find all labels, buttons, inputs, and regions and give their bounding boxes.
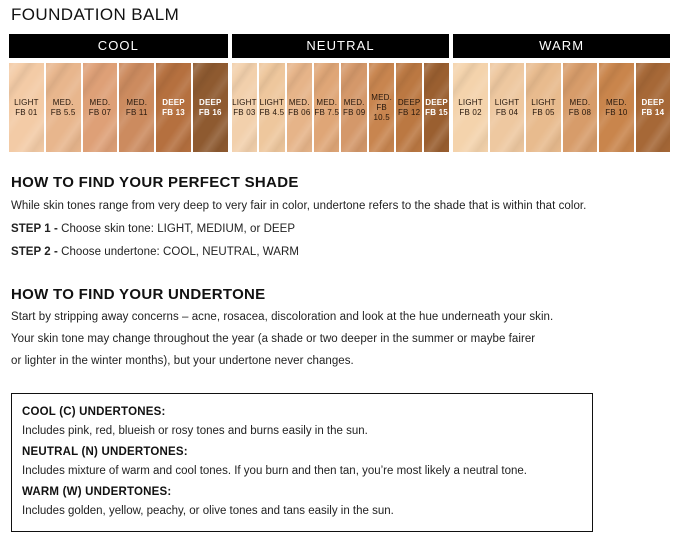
swatch-row-cool: LIGHTFB 01MED.FB 5.5MED.FB 07MED.FB 11DE… <box>9 63 228 152</box>
foundation-balm-shade-guide: FOUNDATION BALM COOL LIGHTFB 01MED.FB 5.… <box>0 0 679 544</box>
swatch-code: FB 4.5 <box>259 108 284 118</box>
swatch-tone: DEEP <box>424 98 449 108</box>
swatch-code: FB 10.5 <box>369 103 394 123</box>
shade-swatch[interactable]: MED.FB 5.5 <box>46 63 81 152</box>
swatch-tone: LIGHT <box>490 98 524 108</box>
undertone-definitions-box: COOL (C) UNDERTONES:Includes pink, red, … <box>11 393 593 532</box>
undertone-description: Includes mixture of warm and cool tones.… <box>22 465 592 477</box>
undertone-entry: NEUTRAL (N) UNDERTONES:Includes mixture … <box>22 446 592 477</box>
swatch-code: FB 08 <box>563 108 597 118</box>
swatch-label: DEEPFB 14 <box>636 98 670 118</box>
swatch-code: FB 10 <box>599 108 633 118</box>
shade-swatch[interactable]: LIGHTFB 02 <box>453 63 487 152</box>
heading-perfect-shade: HOW TO FIND YOUR PERFECT SHADE <box>11 174 299 191</box>
shade-swatch[interactable]: LIGHTFB 4.5 <box>259 63 284 152</box>
undertone-paragraph-1: Start by stripping away concerns – acne,… <box>11 311 553 323</box>
shade-swatch[interactable]: LIGHTFB 03 <box>232 63 257 152</box>
shade-swatch[interactable]: DEEPFB 14 <box>636 63 670 152</box>
step-1-line: STEP 1 - Choose skin tone: LIGHT, MEDIUM… <box>11 223 295 235</box>
swatch-tone: MED. <box>341 98 366 108</box>
swatch-code: FB 12 <box>396 108 421 118</box>
swatch-code: FB 01 <box>9 108 44 118</box>
swatch-tone: LIGHT <box>9 98 44 108</box>
shade-group-cool: COOL LIGHTFB 01MED.FB 5.5MED.FB 07MED.FB… <box>9 34 228 152</box>
step-1-text: Choose skin tone: LIGHT, MEDIUM, or DEEP <box>58 223 295 235</box>
swatch-tone: LIGHT <box>232 98 257 108</box>
swatch-label: LIGHTFB 01 <box>9 98 44 118</box>
shade-swatch[interactable]: LIGHTFB 05 <box>526 63 560 152</box>
shade-swatch[interactable]: MED.FB 11 <box>119 63 154 152</box>
shade-swatch[interactable]: LIGHTFB 01 <box>9 63 44 152</box>
shade-swatch[interactable]: MED.FB 07 <box>83 63 118 152</box>
swatch-label: DEEPFB 12 <box>396 98 421 118</box>
undertone-paragraph-2: Your skin tone may change throughout the… <box>11 333 535 345</box>
swatch-code: FB 07 <box>83 108 118 118</box>
swatch-code: FB 15 <box>424 108 449 118</box>
swatch-tone: MED. <box>314 98 339 108</box>
swatch-label: LIGHTFB 04 <box>490 98 524 118</box>
shade-swatch[interactable]: LIGHTFB 04 <box>490 63 524 152</box>
shade-swatch[interactable]: MED.FB 7.5 <box>314 63 339 152</box>
step-2-label: STEP 2 - <box>11 246 58 258</box>
undertone-paragraph-3: or lighter in the winter months), but yo… <box>11 355 354 367</box>
perfect-shade-lede: While skin tones range from very deep to… <box>11 200 586 212</box>
shade-group-warm: WARM LIGHTFB 02LIGHTFB 04LIGHTFB 05MED.F… <box>453 34 670 152</box>
shade-swatch[interactable]: DEEPFB 15 <box>424 63 449 152</box>
swatch-code: FB 02 <box>453 108 487 118</box>
swatch-code: FB 11 <box>119 108 154 118</box>
swatch-label: MED.FB 09 <box>341 98 366 118</box>
group-header-neutral: NEUTRAL <box>232 34 450 58</box>
step-2-line: STEP 2 - Choose undertone: COOL, NEUTRAL… <box>11 246 299 258</box>
swatch-tone: MED. <box>83 98 118 108</box>
swatch-label: DEEPFB 15 <box>424 98 449 118</box>
swatch-tone: LIGHT <box>453 98 487 108</box>
swatch-tone: DEEP <box>193 98 228 108</box>
shade-chart: COOL LIGHTFB 01MED.FB 5.5MED.FB 07MED.FB… <box>9 34 670 152</box>
swatch-label: MED.FB 06 <box>287 98 312 118</box>
swatch-tone: MED. <box>287 98 312 108</box>
swatch-code: FB 13 <box>156 108 191 118</box>
swatch-tone: MED. <box>46 98 81 108</box>
shade-swatch[interactable]: MED.FB 10.5 <box>369 63 394 152</box>
swatch-label: MED.FB 10 <box>599 98 633 118</box>
swatch-code: FB 5.5 <box>46 108 81 118</box>
swatch-tone: MED. <box>563 98 597 108</box>
swatch-label: MED.FB 7.5 <box>314 98 339 118</box>
undertone-entry: WARM (W) UNDERTONES:Includes golden, yel… <box>22 486 592 517</box>
swatch-label: LIGHTFB 02 <box>453 98 487 118</box>
undertone-description: Includes pink, red, blueish or rosy tone… <box>22 425 592 437</box>
shade-swatch[interactable]: DEEPFB 16 <box>193 63 228 152</box>
swatch-tone: LIGHT <box>526 98 560 108</box>
swatch-label: MED.FB 11 <box>119 98 154 118</box>
heading-undertone: HOW TO FIND YOUR UNDERTONE <box>11 286 265 303</box>
undertone-term: WARM (W) UNDERTONES: <box>22 486 592 498</box>
undertone-term: NEUTRAL (N) UNDERTONES: <box>22 446 592 458</box>
page-title: FOUNDATION BALM <box>11 5 179 25</box>
swatch-tone: DEEP <box>396 98 421 108</box>
swatch-label: MED.FB 10.5 <box>369 93 394 123</box>
swatch-row-warm: LIGHTFB 02LIGHTFB 04LIGHTFB 05MED.FB 08M… <box>453 63 670 152</box>
shade-swatch[interactable]: MED.FB 08 <box>563 63 597 152</box>
swatch-tone: MED. <box>369 93 394 103</box>
step-2-text: Choose undertone: COOL, NEUTRAL, WARM <box>58 246 299 258</box>
shade-swatch[interactable]: MED.FB 06 <box>287 63 312 152</box>
swatch-code: FB 06 <box>287 108 312 118</box>
step-1-label: STEP 1 - <box>11 223 58 235</box>
shade-group-neutral: NEUTRAL LIGHTFB 03LIGHTFB 4.5MED.FB 06ME… <box>232 34 450 152</box>
swatch-tone: MED. <box>599 98 633 108</box>
swatch-label: DEEPFB 16 <box>193 98 228 118</box>
shade-swatch[interactable]: MED.FB 09 <box>341 63 366 152</box>
swatch-code: FB 05 <box>526 108 560 118</box>
swatch-code: FB 14 <box>636 108 670 118</box>
shade-swatch[interactable]: DEEPFB 12 <box>396 63 421 152</box>
swatch-label: MED.FB 5.5 <box>46 98 81 118</box>
swatch-tone: LIGHT <box>259 98 284 108</box>
shade-swatch[interactable]: MED.FB 10 <box>599 63 633 152</box>
swatch-code: FB 03 <box>232 108 257 118</box>
undertone-entry: COOL (C) UNDERTONES:Includes pink, red, … <box>22 406 592 437</box>
undertone-term: COOL (C) UNDERTONES: <box>22 406 592 418</box>
undertone-description: Includes golden, yellow, peachy, or oliv… <box>22 505 592 517</box>
swatch-label: MED.FB 08 <box>563 98 597 118</box>
swatch-code: FB 16 <box>193 108 228 118</box>
swatch-label: DEEPFB 13 <box>156 98 191 118</box>
swatch-code: FB 04 <box>490 108 524 118</box>
swatch-label: LIGHTFB 03 <box>232 98 257 118</box>
swatch-row-neutral: LIGHTFB 03LIGHTFB 4.5MED.FB 06MED.FB 7.5… <box>232 63 450 152</box>
swatch-code: FB 09 <box>341 108 366 118</box>
swatch-code: FB 7.5 <box>314 108 339 118</box>
swatch-label: LIGHTFB 05 <box>526 98 560 118</box>
swatch-tone: MED. <box>119 98 154 108</box>
swatch-tone: DEEP <box>636 98 670 108</box>
swatch-label: LIGHTFB 4.5 <box>259 98 284 118</box>
swatch-label: MED.FB 07 <box>83 98 118 118</box>
group-header-warm: WARM <box>453 34 670 58</box>
swatch-tone: DEEP <box>156 98 191 108</box>
shade-swatch[interactable]: DEEPFB 13 <box>156 63 191 152</box>
group-header-cool: COOL <box>9 34 228 58</box>
